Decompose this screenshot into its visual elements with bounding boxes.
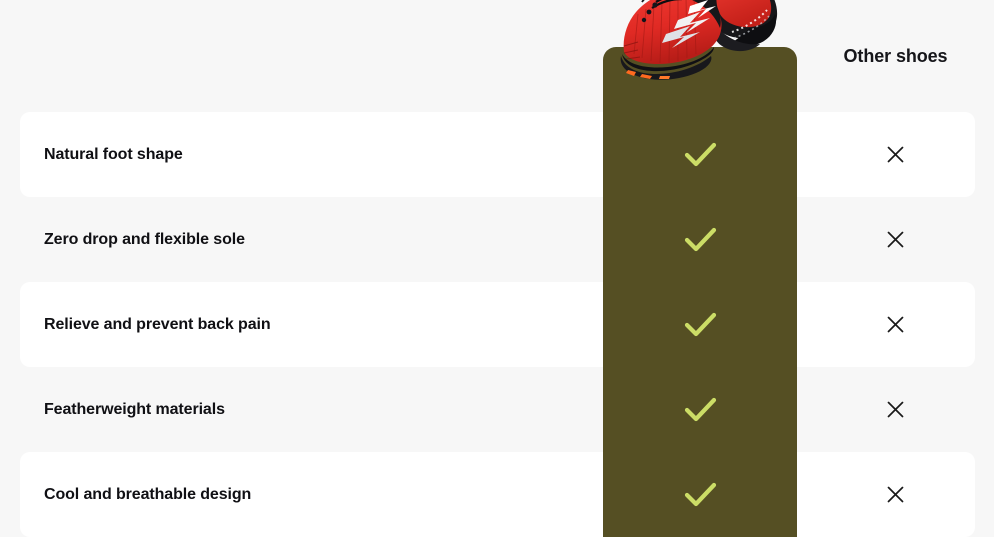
check-icon [684, 397, 717, 423]
cell-other-shoes [797, 197, 994, 282]
cell-our-shoes [603, 452, 797, 537]
cross-icon [886, 230, 905, 249]
cross-icon [886, 485, 905, 504]
feature-label: Cool and breathable design [44, 452, 251, 537]
cross-icon [886, 145, 905, 164]
column-header-other-shoes: Other shoes [797, 0, 994, 112]
table-row: Cool and breathable design [0, 452, 994, 537]
cell-our-shoes [603, 367, 797, 452]
check-icon [684, 142, 717, 168]
check-icon [684, 482, 717, 508]
cross-icon [886, 315, 905, 334]
cell-other-shoes [797, 367, 994, 452]
cell-our-shoes [603, 112, 797, 197]
cell-other-shoes [797, 452, 994, 537]
check-icon [684, 227, 717, 253]
table-header: Other shoes [0, 0, 994, 112]
cell-our-shoes [603, 197, 797, 282]
feature-label: Featherweight materials [44, 367, 225, 452]
comparison-table: Other shoes [0, 0, 994, 537]
feature-label: Relieve and prevent back pain [44, 282, 271, 367]
check-icon [684, 312, 717, 338]
cell-our-shoes [603, 282, 797, 367]
cell-other-shoes [797, 282, 994, 367]
cross-icon [886, 400, 905, 419]
table-row: Natural foot shape [0, 112, 994, 197]
feature-label: Natural foot shape [44, 112, 183, 197]
feature-rows: Natural foot shape Zero drop and flexibl… [0, 112, 994, 537]
table-row: Featherweight materials [0, 367, 994, 452]
table-row: Zero drop and flexible sole [0, 197, 994, 282]
feature-label: Zero drop and flexible sole [44, 197, 245, 282]
cell-other-shoes [797, 112, 994, 197]
table-row: Relieve and prevent back pain [0, 282, 994, 367]
